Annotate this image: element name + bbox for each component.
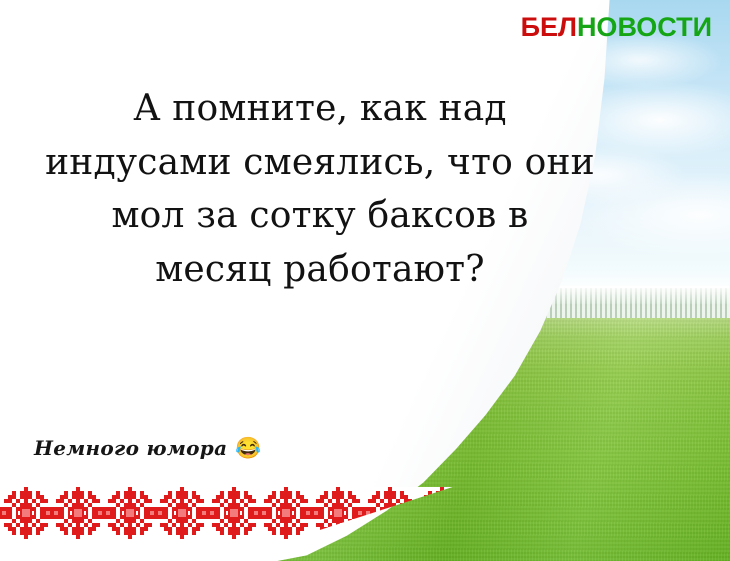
- joke-text: А помните, как над индусами смеялись, чт…: [22, 82, 618, 297]
- caption: Немного юмора 😂: [34, 436, 262, 460]
- joke-line-2: индусами смеялись, что они: [22, 136, 618, 190]
- logo-text-bel: БЕЛ: [521, 12, 577, 42]
- caption-label: Немного юмора: [34, 436, 227, 460]
- laughing-tears-emoji-icon: 😂: [235, 438, 261, 459]
- logo-text-novosti: НОВОСТИ: [577, 12, 712, 42]
- joke-line-3: мол за сотку баксов в: [22, 189, 618, 243]
- site-logo: БЕЛНОВОСТИ: [521, 14, 712, 41]
- joke-card-image: БЕЛНОВОСТИ А помните, как над индусами с…: [0, 0, 730, 561]
- joke-line-1: А помните, как над: [22, 82, 618, 136]
- joke-line-4: месяц работают?: [22, 243, 618, 297]
